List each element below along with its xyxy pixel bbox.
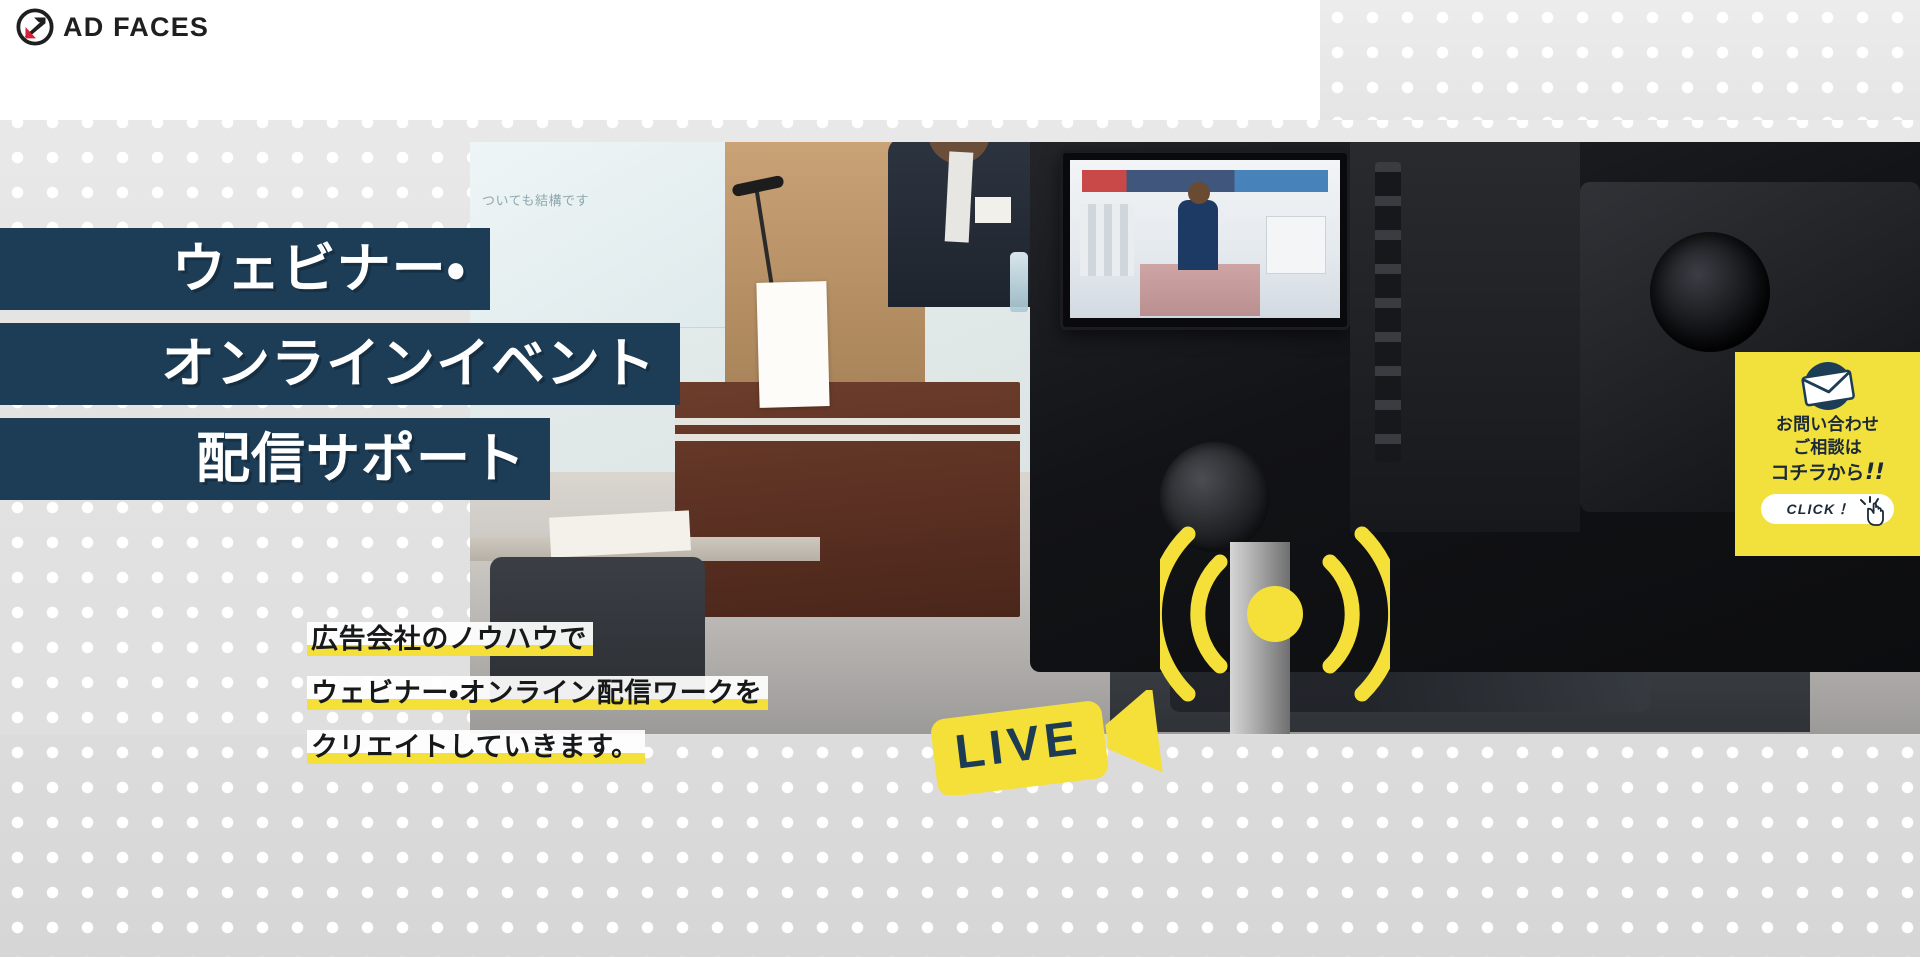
- subtitle-line-1: 広告会社のノウハウで: [307, 622, 593, 656]
- camera-lcd-preview: [1070, 160, 1340, 318]
- site-logo[interactable]: AD FACES: [16, 8, 209, 46]
- podium-nameplate: [756, 281, 829, 408]
- camera-dial: [1160, 442, 1270, 552]
- cta-click-button-label: CLICK！: [1787, 499, 1869, 519]
- lcd-left-panel: [1080, 204, 1134, 276]
- live-badge: LIVE: [925, 690, 1175, 795]
- lcd-podium: [1140, 264, 1260, 316]
- cta-line-1: お問い合わせ: [1776, 415, 1879, 436]
- cta-line-3: コチラから: [1771, 462, 1865, 484]
- subtitle-line-2: ウェビナー・オンライン配信ワークを: [307, 676, 768, 710]
- projector-screen-text: ついても結構です: [482, 190, 589, 209]
- headline-line-2: オンラインイベント: [0, 323, 680, 405]
- speaker-name-badge: [975, 197, 1011, 223]
- site-header: AD FACES: [0, 0, 1920, 120]
- podium: [675, 382, 1020, 617]
- adfaces-logo-icon: [16, 8, 54, 46]
- lcd-whiteboard: [1266, 216, 1326, 274]
- brand-name: AD FACES: [63, 12, 209, 43]
- hero-headline: ウェビナー・ オンラインイベント 配信サポート: [0, 228, 680, 513]
- water-bottle: [1010, 252, 1028, 312]
- camera-button-strip: [1375, 162, 1401, 462]
- subtitle-line-3: クリエイトしていきます。: [307, 730, 645, 764]
- landing-page: ついても結構です: [0, 0, 1920, 957]
- cta-line-2: ご相談は: [1793, 438, 1862, 459]
- speaker-person-shirt: [945, 151, 974, 242]
- cta-line-3-wrap: コチラから!!: [1771, 460, 1885, 487]
- lcd-person-body: [1178, 200, 1218, 270]
- contact-cta-box[interactable]: お問い合わせ ご相談は コチラから!! CLICK！: [1735, 352, 1920, 556]
- pointing-hand-icon: [1858, 496, 1886, 526]
- mail-envelope-icon: [1795, 361, 1861, 413]
- headline-line-1: ウェビナー・: [0, 228, 490, 310]
- lcd-person-head: [1188, 182, 1210, 204]
- hero-subtitle: 広告会社のノウハウで ウェビナー・オンライン配信ワークを クリエイトしていきます…: [307, 622, 768, 764]
- table-paper: [549, 510, 691, 557]
- camera-tripod-column: [1230, 542, 1290, 734]
- camera-lens-glass: [1650, 232, 1770, 352]
- cta-click-button[interactable]: CLICK！: [1761, 494, 1894, 524]
- headline-line-3: 配信サポート: [0, 418, 550, 500]
- cta-line-3-exclaim: !!: [1865, 460, 1884, 485]
